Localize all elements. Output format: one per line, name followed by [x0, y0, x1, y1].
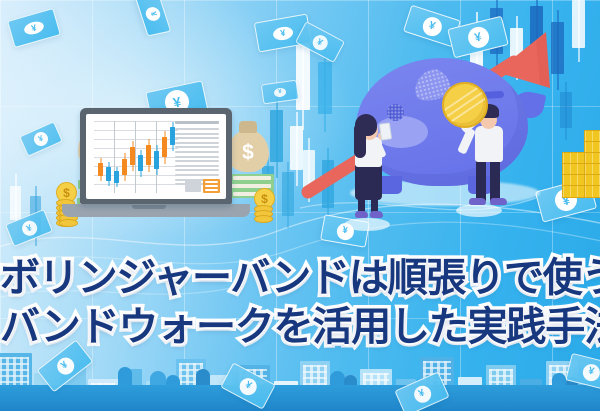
city-skyline-silhouette	[0, 345, 600, 411]
candle	[122, 159, 127, 175]
bill-yen-symbol: ¥	[144, 6, 162, 22]
man-leg	[476, 158, 486, 202]
woman-shoe	[355, 211, 368, 218]
candle	[114, 171, 119, 183]
cash-stack	[230, 174, 274, 182]
coin-stack: $	[254, 188, 273, 228]
piggy-bank-scene	[316, 30, 600, 245]
coin-dollar-symbol: $	[261, 193, 268, 205]
money-bag-dollar: $	[227, 130, 269, 172]
headline-line-1: ボリンジャーバンドは順張りで使う？	[0, 258, 600, 298]
document-chart-thumbnail	[203, 179, 220, 193]
candle	[146, 145, 151, 165]
bill-yen-symbol: ¥	[23, 19, 46, 36]
candle	[138, 155, 143, 171]
money-bag-neck	[239, 121, 257, 133]
woman-with-smartphone	[342, 112, 400, 220]
laptop-screen	[80, 108, 232, 204]
bill-yen-symbol: ¥	[272, 25, 294, 41]
document-image-placeholder	[185, 179, 201, 192]
man-inserting-coin	[456, 88, 518, 208]
man-shoe	[490, 198, 507, 205]
document-text-lines	[175, 121, 219, 188]
bill-yen-symbol: ¥	[53, 354, 77, 378]
candlestick-chart	[94, 121, 178, 193]
candle	[162, 137, 167, 157]
smartphone	[379, 122, 392, 140]
laptop-screen-content	[86, 114, 226, 199]
candle	[106, 167, 111, 181]
candle	[98, 163, 103, 176]
headline-block: ボリンジャーバンドは順張りで使う？ バンドウォークを活用した実践手法	[0, 258, 600, 347]
bill-yen-symbol: ¥	[411, 383, 433, 405]
ground-band	[0, 385, 600, 411]
chart-gridlines	[94, 121, 178, 193]
woman-shoe	[370, 211, 383, 218]
gold-coin	[442, 82, 488, 128]
man-leg	[490, 158, 500, 202]
stock-article-banner: ¥ ¥ ¥ ¥ ¥ ¥ ¥ ¥ ¥ ¥ ¥ ¥ $ ¥	[0, 0, 600, 411]
bill-yen-symbol: ¥	[237, 375, 260, 398]
candle	[130, 147, 135, 165]
laptop-scene: $ ¥ $	[34, 108, 264, 240]
woman-hair-long	[354, 124, 366, 158]
bill-yen-symbol: ¥	[273, 87, 286, 98]
coin-dollar-symbol: $	[63, 187, 70, 199]
man-shoe	[469, 198, 486, 205]
bill-yen-symbol: ¥	[581, 362, 600, 383]
candle	[154, 151, 159, 169]
laptop-notch	[132, 205, 166, 209]
headline-line-2: バンドウォークを活用した実践手法	[0, 307, 600, 347]
man-torso	[475, 126, 503, 162]
money-bag-dollar-symbol: $	[227, 142, 269, 163]
woman-skirt	[355, 162, 382, 200]
